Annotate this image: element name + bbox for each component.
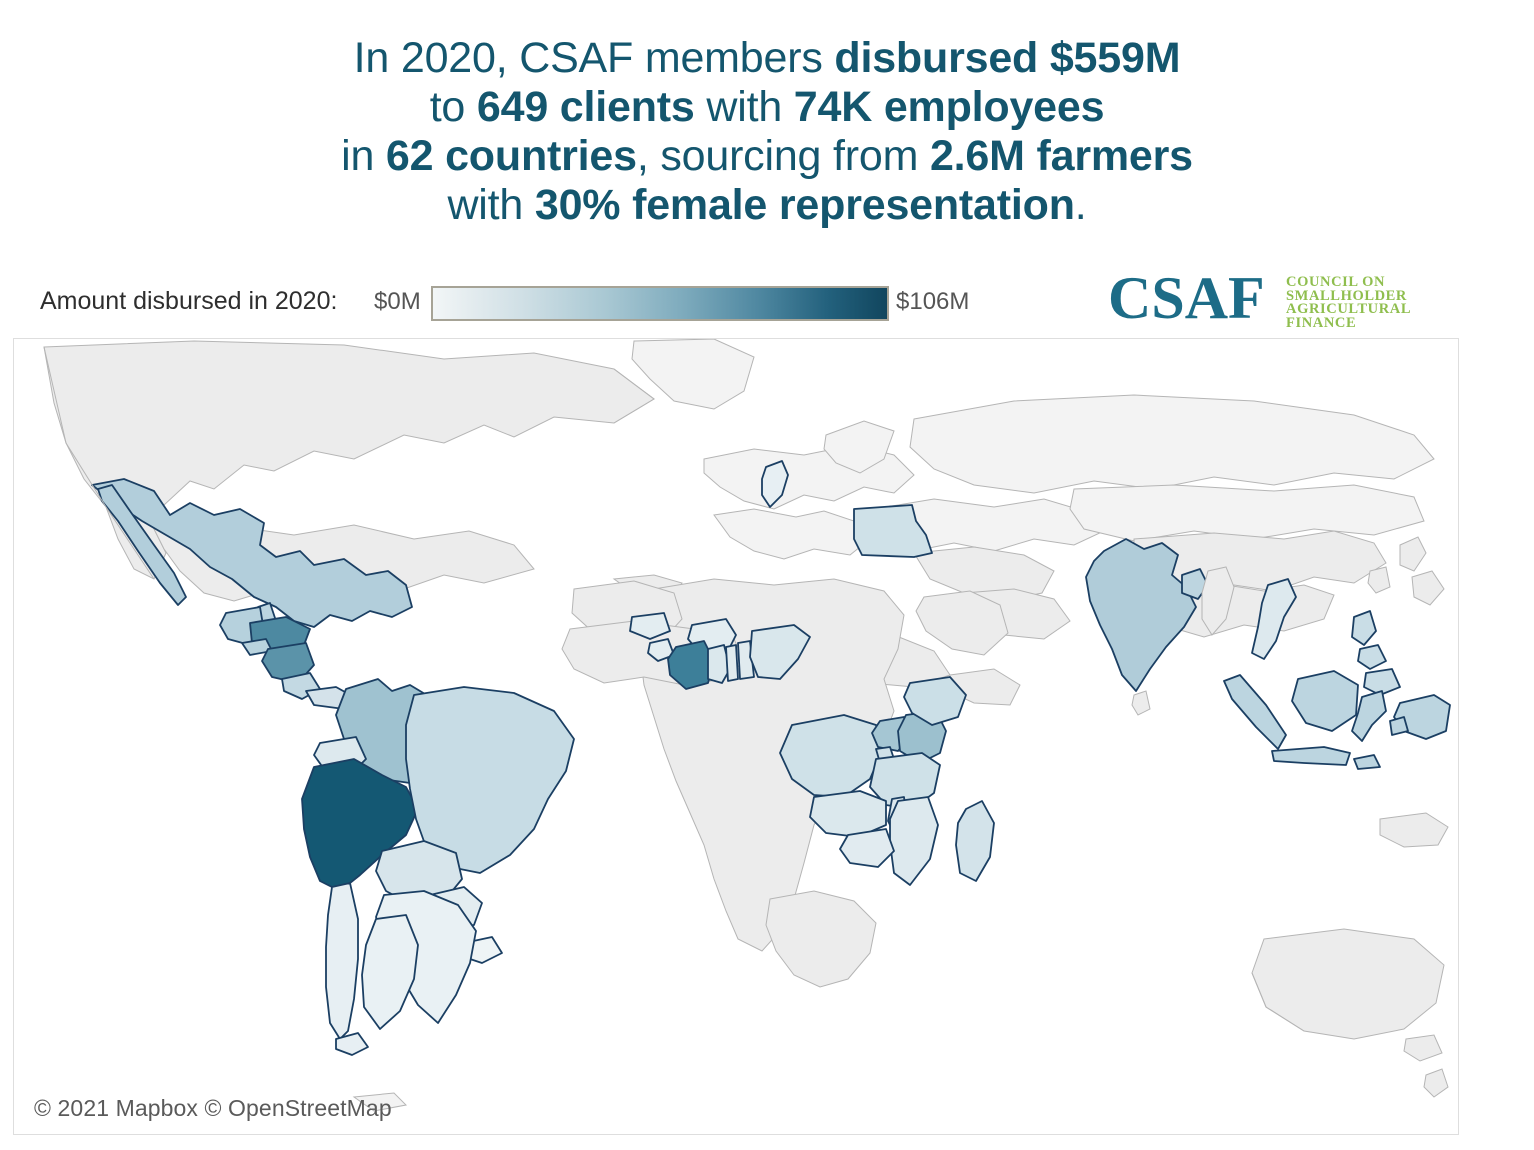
- legend-min-label: $0M: [374, 288, 421, 316]
- headline-text: In 2020, CSAF members: [354, 34, 835, 82]
- headline-text: .: [1075, 181, 1087, 229]
- headline-emphasis: 62 countries: [386, 132, 637, 180]
- choropleth-map[interactable]: .base { fill:#ececec; stroke:#b5b5b5; st…: [13, 338, 1459, 1135]
- headline-text: with: [695, 83, 794, 131]
- headline-line-3: in 62 countries, sourcing from 2.6M farm…: [0, 132, 1534, 181]
- headline-emphasis: 30% female representation: [535, 181, 1075, 229]
- legend-max-label: $106M: [896, 288, 969, 316]
- headline-text: to: [430, 83, 477, 131]
- headline-line-4: with 30% female representation.: [0, 181, 1534, 230]
- headline-text: in: [341, 132, 386, 180]
- csaf-tagline: COUNCIL ON SMALLHOLDER AGRICULTURAL FINA…: [1286, 276, 1411, 330]
- csaf-tagline-line-4: FINANCE: [1286, 317, 1411, 331]
- map-attribution: © 2021 Mapbox © OpenStreetMap: [34, 1095, 392, 1122]
- legend-title: Amount disbursed in 2020:: [40, 287, 337, 316]
- headline-text: , sourcing from: [637, 132, 930, 180]
- csaf-wordmark: CSAF: [1108, 268, 1265, 328]
- headline-line-2: to 649 clients with 74K employees: [0, 83, 1534, 132]
- headline-emphasis: disbursed $559M: [834, 34, 1180, 82]
- country-togo[interactable]: [726, 645, 738, 681]
- country-indonesia-maluku[interactable]: [1390, 717, 1408, 735]
- headline-emphasis: 2.6M farmers: [930, 132, 1193, 180]
- headline-text: with: [447, 181, 534, 229]
- country-indonesia-java[interactable]: [1272, 747, 1350, 765]
- page-title: In 2020, CSAF members disbursed $559M to…: [0, 34, 1534, 230]
- headline-line-1: In 2020, CSAF members disbursed $559M: [0, 34, 1534, 83]
- legend-gradient-bar: [431, 286, 889, 321]
- headline-emphasis: 74K employees: [794, 83, 1105, 131]
- world-map-svg[interactable]: .base { fill:#ececec; stroke:#b5b5b5; st…: [14, 339, 1458, 1134]
- csaf-logo: CSAF COUNCIL ON SMALLHOLDER AGRICULTURAL…: [1108, 270, 1428, 332]
- headline-emphasis: 649 clients: [477, 83, 695, 131]
